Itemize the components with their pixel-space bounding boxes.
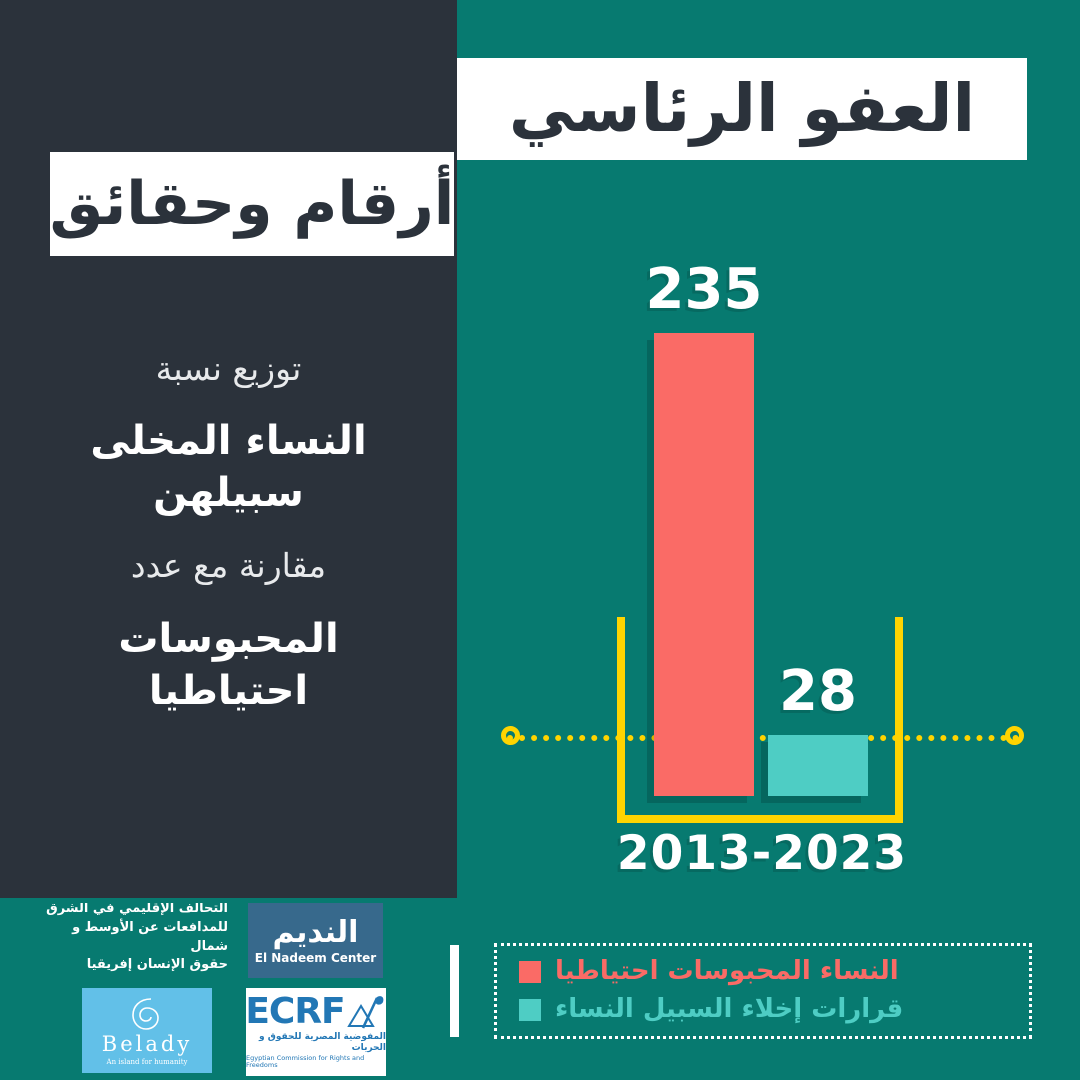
logo-belady-name: Belady xyxy=(102,1034,192,1055)
subtitle-box: أرقام وحقائق xyxy=(50,152,454,256)
infographic-canvas: العفو الرئاسي أرقام وحقائق توزيع نسبة ال… xyxy=(0,0,1080,1080)
legend-item-released: قرارات إخلاء السبيل النساء xyxy=(519,991,903,1029)
logo-el-nadeem: النديم El Nadeem Center xyxy=(248,903,383,978)
bar-value-detained-women: 235 xyxy=(624,262,784,318)
legend-label-detained: النساء المحبوسات احتياطيا xyxy=(555,953,899,991)
logo-ecrf-english: Egyptian Commission for Rights and Freed… xyxy=(246,1055,386,1071)
legend-label-released: قرارات إخلاء السبيل النساء xyxy=(555,991,903,1029)
logo-regional-coalition-text: التحالف الإقليمي في الشرق للمدافعات عن ا… xyxy=(46,903,228,972)
ecrf-pyramid-flag-icon xyxy=(347,994,386,1030)
logo-el-nadeem-english: El Nadeem Center xyxy=(255,952,376,964)
chart-legend: النساء المحبوسات احتياطيا قرارات إخلاء ا… xyxy=(494,943,1032,1039)
chart-baseline xyxy=(507,735,1019,741)
logo-ecrf-arabic: المفوضية المصرية للحقوق و الحريات xyxy=(246,1032,386,1054)
title-box: العفو الرئاسي xyxy=(457,58,1027,160)
logo-ecrf: ECRF المفوضية المصرية للحقوق و الحريات E… xyxy=(246,988,386,1076)
legend-swatch-detained xyxy=(519,961,541,983)
sidebar-caption: توزيع نسبة النساء المخلى سبيلهن مقارنة م… xyxy=(0,348,457,717)
legend-swatch-released xyxy=(519,999,541,1021)
baseline-endpoint-left-icon xyxy=(501,726,520,745)
logo-ecrf-letters: ECRF xyxy=(246,994,345,1030)
logo-el-nadeem-arabic: النديم xyxy=(273,918,359,948)
baseline-endpoint-right-icon xyxy=(1005,726,1024,745)
caption-line-3: مقارنة مع عدد xyxy=(0,545,457,586)
bar-released-women xyxy=(768,735,868,796)
logo-ecrf-top: ECRF xyxy=(246,994,386,1030)
logo-strip: التحالف الإقليمي في الشرق للمدافعات عن ا… xyxy=(46,903,386,1073)
caption-line-1: توزيع نسبة xyxy=(0,348,457,389)
page-title: العفو الرئاسي xyxy=(509,76,975,142)
logo-belady-tagline: An island for humanity xyxy=(107,1059,188,1066)
legend-item-detained: النساء المحبوسات احتياطيا xyxy=(519,953,899,991)
bar-chart: 235 28 2013-2023 xyxy=(457,230,1080,910)
bar-detained-women xyxy=(654,333,754,796)
page-subtitle: أرقام وحقائق xyxy=(50,174,455,234)
logo-belady: Belady An island for humanity xyxy=(82,988,212,1073)
bar-value-released-women: 28 xyxy=(738,664,898,720)
caption-line-2: النساء المخلى سبيلهن xyxy=(0,415,457,519)
legend-accent-bar xyxy=(450,945,459,1037)
caption-line-4: المحبوسات احتياطيا xyxy=(0,613,457,717)
logo-regional-coalition: التحالف الإقليمي في الشرق للمدافعات عن ا… xyxy=(46,903,228,972)
x-axis-label: 2013-2023 xyxy=(567,830,957,877)
belady-monogram-icon xyxy=(125,996,169,1032)
